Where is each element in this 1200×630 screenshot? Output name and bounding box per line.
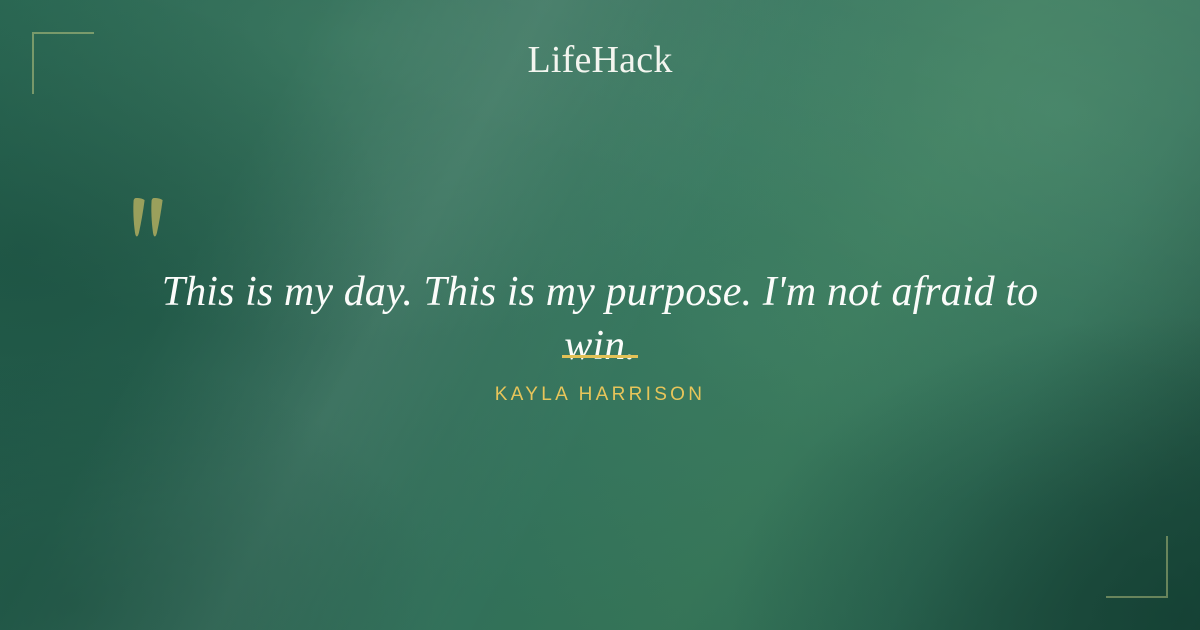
gold-divider xyxy=(562,355,638,358)
brand-logo: LifeHack xyxy=(0,38,1200,82)
quotation-mark-icon xyxy=(130,196,174,242)
quote-card: LifeHack This is my day. This is my purp… xyxy=(0,0,1200,630)
quote-author: KAYLA HARRISON xyxy=(0,384,1200,406)
